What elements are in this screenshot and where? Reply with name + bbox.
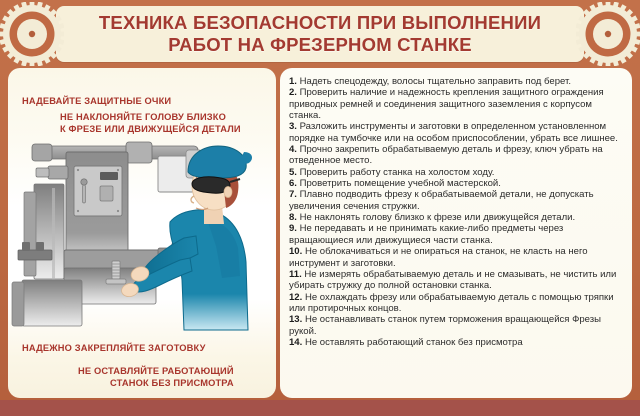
safety-rules-list: 1. Надеть спецодежду, волосы тщательно з… <box>289 76 625 390</box>
rule-text: Плавно подводить фрезу к обрабатываемой … <box>289 189 594 211</box>
rule-number: 11. <box>289 269 302 280</box>
rule-text: Не измерять обрабатываемую деталь и не с… <box>289 269 616 291</box>
rule-number: 14. <box>289 337 302 348</box>
gear-icon <box>576 2 640 66</box>
list-item: 1. Надеть спецодежду, волосы тщательно з… <box>289 76 625 87</box>
rule-number: 7. <box>289 189 297 200</box>
warning-never-leave-unattended-line1: НЕ ОСТАВЛЯЙТЕ РАБОТАЮЩИЙ <box>78 366 234 378</box>
gear-icon <box>0 2 64 66</box>
title-line-1: ТЕХНИКА БЕЗОПАСНОСТИ ПРИ ВЫПОЛНЕНИИ <box>99 12 541 33</box>
rule-text: Не облокачиваться и не опираться на стан… <box>289 246 588 268</box>
rule-text: Проверить работу станка на холостом ходу… <box>300 167 495 178</box>
list-item: 12. Не охлаждать фрезу или обрабатываему… <box>289 292 625 315</box>
bottom-strip <box>0 400 640 416</box>
rule-text: Проверить наличие и надежность крепления… <box>289 87 604 121</box>
rule-number: 1. <box>289 76 297 87</box>
warning-secure-workpiece: НАДЕЖНО ЗАКРЕПЛЯЙТЕ ЗАГОТОВКУ <box>22 343 206 355</box>
list-item: 13. Не останавливать станок путем тормож… <box>289 314 625 337</box>
rule-number: 5. <box>289 167 297 178</box>
list-item: 7. Плавно подводить фрезу к обрабатываем… <box>289 189 625 212</box>
list-item: 14. Не оставлять работающий станок без п… <box>289 337 625 348</box>
warning-keep-head-away-line2: К ФРЕЗЕ ИЛИ ДВИЖУЩЕЙСЯ ДЕТАЛИ <box>60 124 241 136</box>
page-title: ТЕХНИКА БЕЗОПАСНОСТИ ПРИ ВЫПОЛНЕНИИ РАБО… <box>99 12 541 56</box>
warning-never-leave-unattended: НЕ ОСТАВЛЯЙТЕ РАБОТАЮЩИЙ СТАНОК БЕЗ ПРИС… <box>78 366 234 389</box>
rule-text: Не останавливать станок путем торможения… <box>289 314 601 336</box>
list-item: 9. Не передавать и не принимать какие-ли… <box>289 223 625 246</box>
list-item: 2. Проверить наличие и надежность крепле… <box>289 87 625 121</box>
rule-number: 6. <box>289 178 297 189</box>
list-item: 8. Не наклонять голову близко к фрезе ил… <box>289 212 625 223</box>
safety-poster: ТЕХНИКА БЕЗОПАСНОСТИ ПРИ ВЫПОЛНЕНИИ РАБО… <box>0 0 640 416</box>
warning-never-leave-unattended-line2: СТАНОК БЕЗ ПРИСМОТРА <box>78 378 234 390</box>
rule-number: 2. <box>289 87 297 98</box>
rule-number: 10. <box>289 246 302 257</box>
list-item: 4. Прочно закрепить обрабатываемую детал… <box>289 144 625 167</box>
rule-number: 3. <box>289 121 297 132</box>
illustration-panel: НАДЕВАЙТЕ ЗАЩИТНЫЕ ОЧКИ НЕ НАКЛОНЯЙТЕ ГО… <box>8 68 276 398</box>
rule-number: 8. <box>289 212 297 223</box>
rule-number: 12. <box>289 292 302 303</box>
poster-header: ТЕХНИКА БЕЗОПАСНОСТИ ПРИ ВЫПОЛНЕНИИ РАБО… <box>56 6 584 62</box>
warning-keep-head-away-line1: НЕ НАКЛОНЯЙТЕ ГОЛОВУ БЛИЗКО <box>60 112 226 122</box>
warning-keep-head-away: НЕ НАКЛОНЯЙТЕ ГОЛОВУ БЛИЗКО К ФРЕЗЕ ИЛИ … <box>60 112 241 135</box>
rule-number: 13. <box>289 314 302 325</box>
rule-text: Не оставлять работающий станок без присм… <box>305 337 523 348</box>
rule-text: Не охлаждать фрезу или обрабатываемую де… <box>289 292 614 314</box>
rules-panel: 1. Надеть спецодежду, волосы тщательно з… <box>280 68 632 398</box>
rule-text: Не наклонять голову близко к фрезе или д… <box>300 212 576 223</box>
list-item: 5. Проверить работу станка на холостом х… <box>289 167 625 178</box>
rule-number: 9. <box>289 223 297 234</box>
rule-number: 4. <box>289 144 297 155</box>
milling-machine-illustration <box>8 130 276 335</box>
rule-text: Надеть спецодежду, волосы тщательно запр… <box>300 76 571 87</box>
title-line-2: РАБОТ НА ФРЕЗЕРНОМ СТАНКЕ <box>99 34 541 56</box>
rule-text: Проветрить помещение учебной мастерской. <box>300 178 501 189</box>
list-item: 3. Разложить инструменты и заготовки в о… <box>289 121 625 144</box>
rule-text: Разложить инструменты и заготовки в опре… <box>289 121 618 143</box>
warning-wear-goggles: НАДЕВАЙТЕ ЗАЩИТНЫЕ ОЧКИ <box>22 96 171 108</box>
rule-text: Не передавать и не принимать какие-либо … <box>289 223 563 245</box>
list-item: 11. Не измерять обрабатываемую деталь и … <box>289 269 625 292</box>
rule-text: Прочно закрепить обрабатываемую деталь и… <box>289 144 603 166</box>
list-item: 6. Проветрить помещение учебной мастерск… <box>289 178 625 189</box>
list-item: 10. Не облокачиваться и не опираться на … <box>289 246 625 269</box>
